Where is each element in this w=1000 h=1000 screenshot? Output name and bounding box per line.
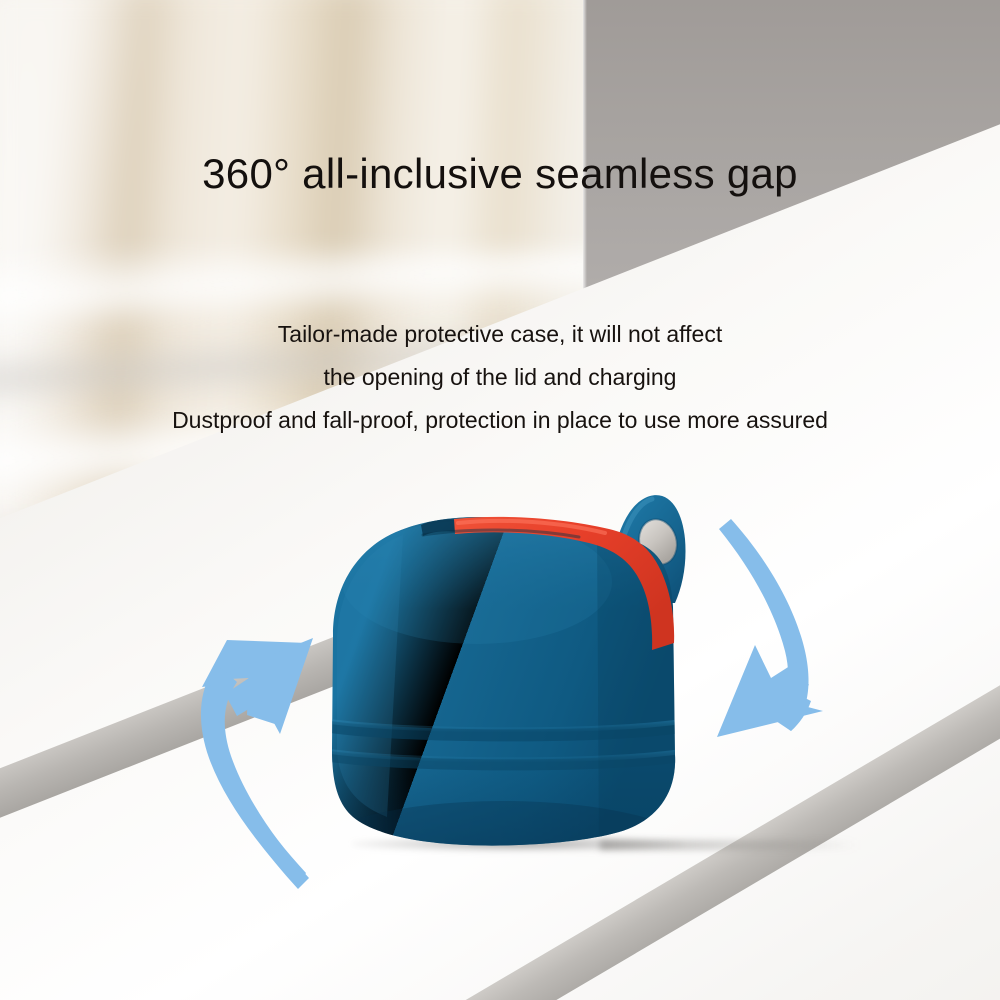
product-earbud-case [327,487,699,849]
feature-copy-line-2: the opening of the lid and charging [0,356,1000,399]
rotate-arrow-left [185,630,350,895]
rotate-arrow-right [695,515,850,740]
product-marketing-image: 360° all-inclusive seamless gap Tailor-m… [0,0,1000,1000]
page-title: 360° all-inclusive seamless gap [0,148,1000,200]
feature-copy-line-1: Tailor-made protective case, it will not… [0,313,1000,356]
feature-copy-line-3: Dustproof and fall-proof, protection in … [0,399,1000,442]
feature-copy: Tailor-made protective case, it will not… [0,313,1000,442]
